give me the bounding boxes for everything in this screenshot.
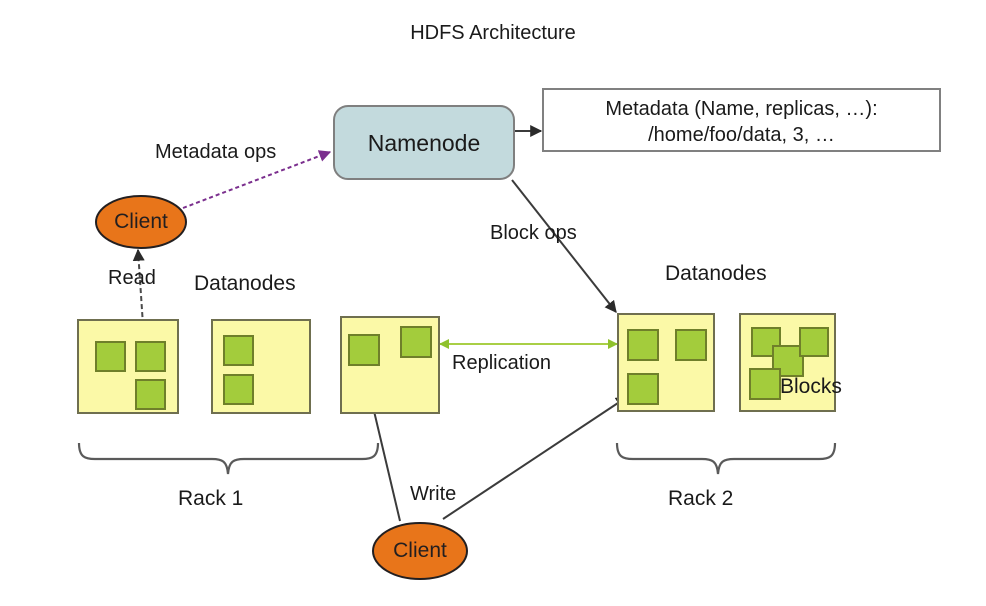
block <box>401 327 431 357</box>
metadata-ops-label: Metadata ops <box>155 141 276 164</box>
block <box>224 336 253 365</box>
rack1-datanode-3[interactable] <box>341 317 439 413</box>
block <box>349 335 379 365</box>
rack1-datanode-2[interactable] <box>212 320 310 413</box>
block <box>136 380 165 409</box>
block <box>628 330 658 360</box>
hdfs-architecture-diagram: HDFS Architecture <box>0 0 986 606</box>
block <box>800 328 828 356</box>
datanodes-right-label: Datanodes <box>665 262 767 286</box>
block <box>224 375 253 404</box>
rack2-brace <box>617 443 835 474</box>
block-ops-label: Block ops <box>490 222 577 245</box>
rack1-label: Rack 1 <box>178 487 243 511</box>
metadata-line-1: Metadata (Name, replicas, …): <box>543 96 940 122</box>
write-arrow-right <box>443 397 627 519</box>
write-label: Write <box>410 483 456 506</box>
diagram-canvas <box>0 0 986 606</box>
block <box>136 342 165 371</box>
read-label: Read <box>108 267 156 290</box>
client-bottom-label: Client <box>373 539 467 563</box>
datanodes-left-label: Datanodes <box>194 272 296 296</box>
block <box>96 342 125 371</box>
rack1-brace <box>79 443 378 474</box>
metadata-line-2: /home/foo/data, 3, … <box>543 122 940 148</box>
rack1-datanode-1[interactable] <box>78 320 178 413</box>
replication-label: Replication <box>452 352 551 375</box>
client-top-label: Client <box>96 210 186 234</box>
block <box>750 369 780 399</box>
rack2-datanode-1[interactable] <box>618 314 714 411</box>
block <box>676 330 706 360</box>
block-ops-arrow <box>512 180 616 312</box>
block <box>628 374 658 404</box>
rack2-label: Rack 2 <box>668 487 733 511</box>
namenode-label: Namenode <box>334 130 514 157</box>
blocks-label: Blocks <box>780 375 842 399</box>
